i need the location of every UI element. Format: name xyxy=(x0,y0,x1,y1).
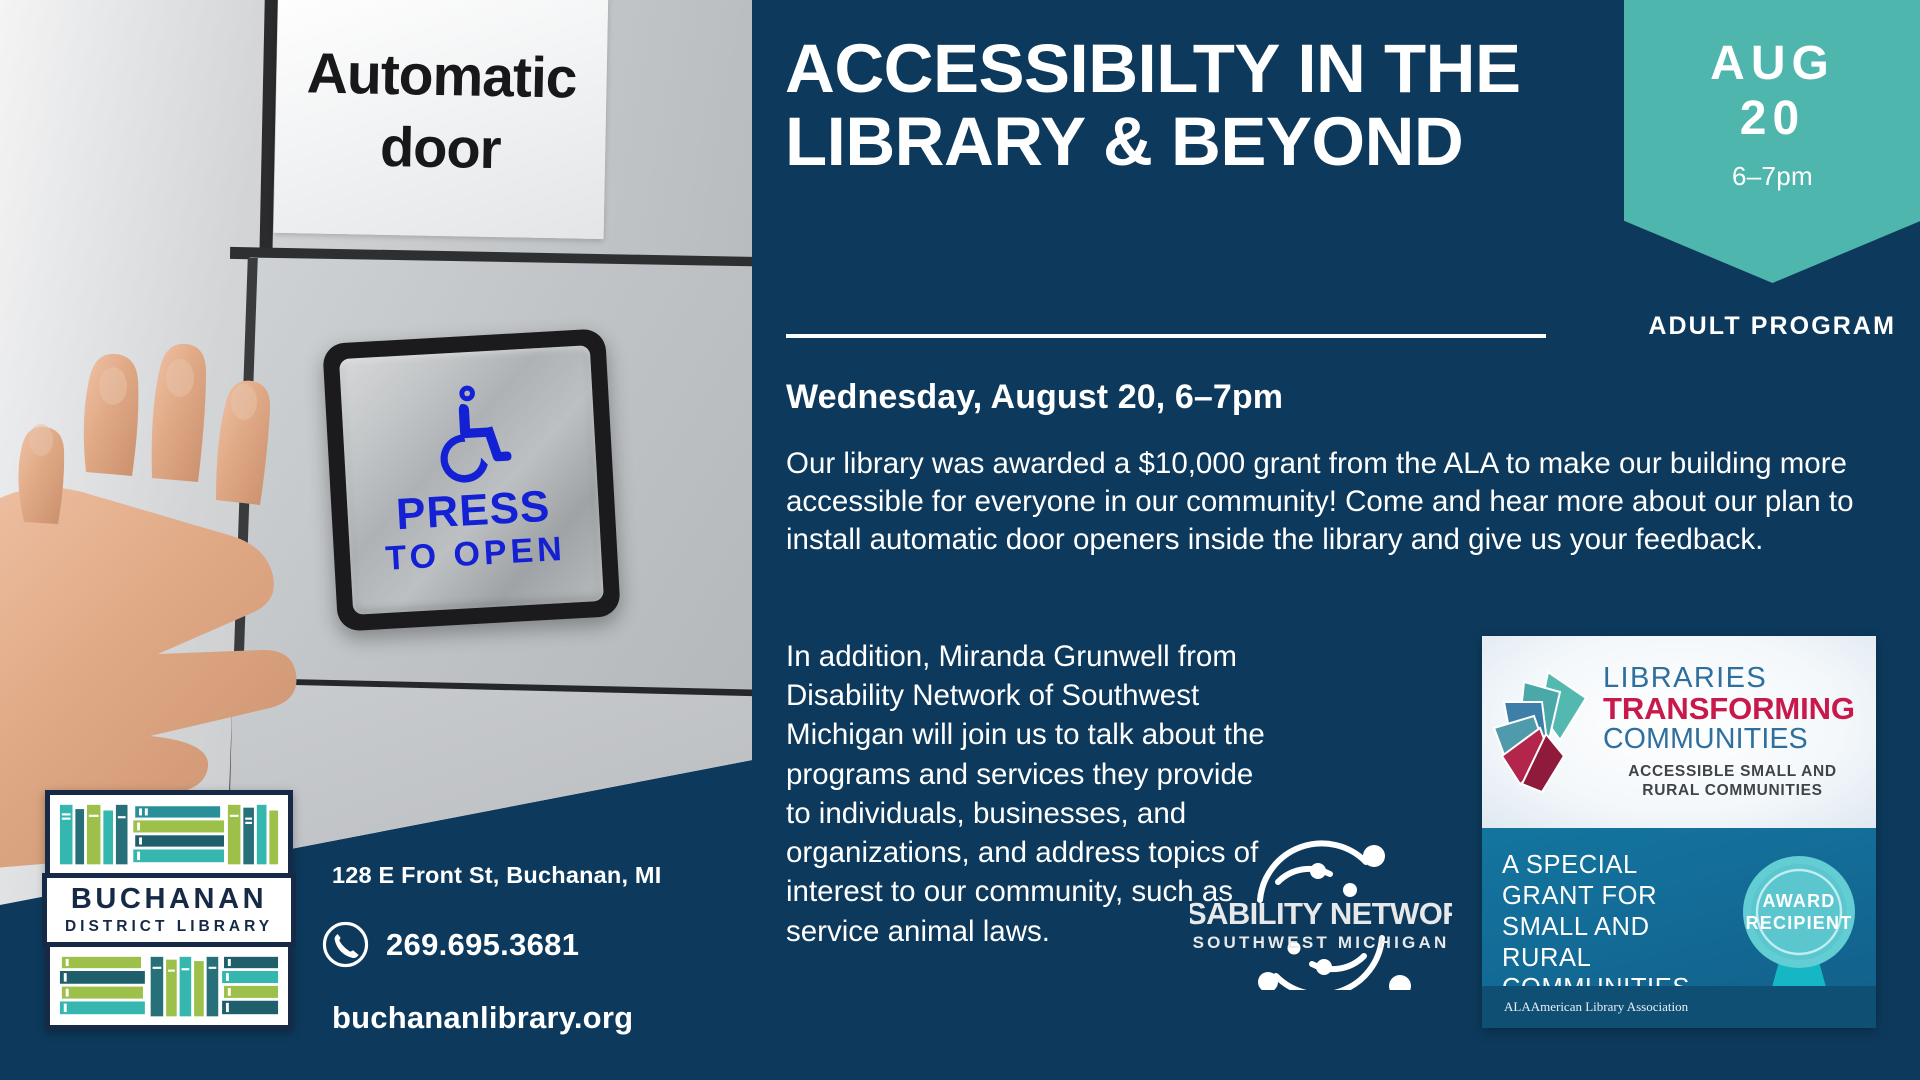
open-book-fan-icon xyxy=(1490,668,1594,796)
wheelchair-accessibility-icon xyxy=(419,383,518,488)
library-address: 128 E Front St, Buchanan, MI xyxy=(332,862,661,889)
bookshelf-icon-bottom xyxy=(50,947,288,1025)
event-datetime: Wednesday, August 20, 6–7pm xyxy=(786,378,1283,417)
library-website[interactable]: buchananlibrary.org xyxy=(332,1000,661,1036)
press-label: PRESS xyxy=(395,485,551,538)
ala-abbr: ALA xyxy=(1504,999,1531,1015)
page-title: ACCESSIBILTY IN THE LIBRARY & BEYOND xyxy=(785,32,1605,178)
flyer-canvas: Automatic door PRESS TO OPEN xyxy=(0,0,1920,1080)
ltc-grant-card: LIBRARIES TRANSFORMING COMMUNITIES ACCES… xyxy=(1482,636,1876,1028)
event-description-1: Our library was awarded a $10,000 grant … xyxy=(786,445,1876,559)
library-nameplate: BUCHANAN DISTRICT LIBRARY xyxy=(42,873,296,948)
grant-banner: A SPECIAL GRANT FOR SMALL AND RURAL COMM… xyxy=(1482,828,1876,1028)
ltc-line-4: ACCESSIBLE SMALL AND RURAL COMMUNITIES xyxy=(1603,762,1862,800)
hand-pressing-button xyxy=(0,236,400,876)
bookshelf-icon-top xyxy=(50,795,288,873)
buchanan-library-logo: BUCHANAN DISTRICT LIBRARY xyxy=(45,790,293,1030)
ala-full-name: American Library Association xyxy=(1531,999,1688,1015)
ltc-wordmark: LIBRARIES TRANSFORMING COMMUNITIES ACCES… xyxy=(1603,664,1862,800)
ltc-line-2: TRANSFORMING xyxy=(1603,693,1862,725)
phone-row[interactable]: 269.695.3681 xyxy=(322,921,661,968)
phone-handset-icon xyxy=(322,921,369,968)
ltc-line-1: LIBRARIES xyxy=(1603,664,1862,694)
ala-attribution-bar: ALAAmerican Library Association xyxy=(1482,986,1876,1028)
grant-description: A SPECIAL GRANT FOR SMALL AND RURAL COMM… xyxy=(1502,850,1717,1004)
sign-line-2: door xyxy=(379,113,501,180)
library-name: BUCHANAN xyxy=(42,885,296,914)
partner-region: SOUTHWEST MICHIGAN xyxy=(1193,933,1450,952)
library-phone: 269.695.3681 xyxy=(386,927,579,963)
program-type-label: ADULT PROGRAM xyxy=(1648,312,1896,341)
badge-time: 6–7pm xyxy=(1624,161,1920,192)
library-subtitle: DISTRICT LIBRARY xyxy=(42,919,296,935)
badge-month: AUG xyxy=(1624,40,1920,89)
sign-line-1: Automatic xyxy=(306,40,577,111)
ltc-logo-area: LIBRARIES TRANSFORMING COMMUNITIES ACCES… xyxy=(1482,636,1876,828)
automatic-door-sign: Automatic door xyxy=(274,0,609,239)
seal-line-2: RECIPIENT xyxy=(1746,913,1853,933)
contact-block: 128 E Front St, Buchanan, MI 269.695.368… xyxy=(332,862,661,1036)
seal-line-1: AWARD xyxy=(1763,891,1836,911)
disability-network-logo: DISABILITY NETWORK SOUTHWEST MICHIGAN xyxy=(1190,838,1452,990)
ltc-line-3: COMMUNITIES xyxy=(1603,725,1862,755)
title-divider xyxy=(786,334,1546,338)
date-badge: AUG 20 6–7pm xyxy=(1624,0,1920,283)
badge-day: 20 xyxy=(1624,95,1920,144)
partner-name: DISABILITY NETWORK xyxy=(1190,896,1452,931)
